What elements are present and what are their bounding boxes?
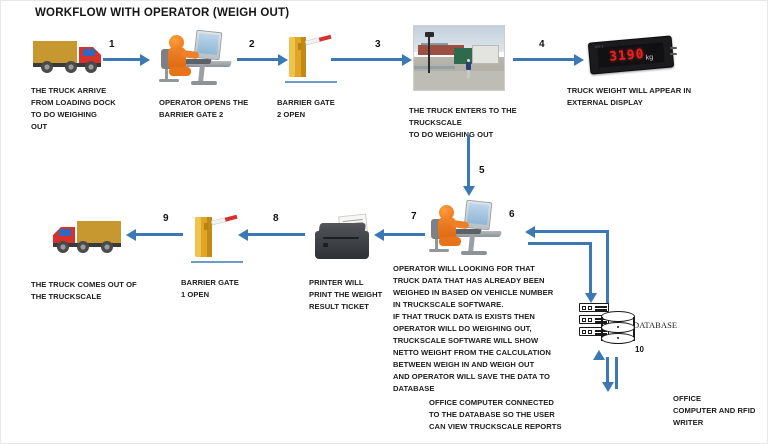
step-number-4: 4 [539, 39, 545, 50]
step-number-1: 1 [109, 39, 115, 50]
arrow-5 [467, 135, 470, 187]
step-number-2: 2 [249, 39, 255, 50]
display-bolt-icon [670, 47, 677, 49]
database-cylinder-icon [601, 311, 635, 345]
database-to-office-arrow [606, 357, 609, 383]
display-weight-unit: kg [645, 54, 653, 62]
database-label: DATABASE [633, 319, 677, 332]
led-weight-display-node: KG-1 3190 kg [585, 35, 677, 75]
operator-weighing-node [429, 197, 503, 257]
arrow-6-horizontal [534, 230, 609, 233]
arrow-2 [237, 58, 279, 61]
office-computer-label: OFFICE COMPUTER AND RFID WRITER [673, 393, 765, 429]
step-number-6: 6 [509, 209, 515, 220]
printer-caption: PRINTER WILL PRINT THE WEIGHT RESULT TIC… [309, 277, 401, 313]
truck-exit-caption: THE TRUCK COMES OUT OF THE TRUCKSCALE [31, 279, 171, 303]
truckscale-photo [413, 25, 505, 91]
office-to-database-line [615, 357, 618, 389]
database-node [579, 299, 637, 349]
arrow-1 [103, 58, 141, 61]
printer-node [313, 215, 371, 259]
step-number-9: 9 [163, 213, 169, 224]
operator-to-database-horizontal [528, 242, 592, 245]
step-number-8: 8 [273, 213, 279, 224]
barrier-gate-1-caption: BARRIER GATE 1 OPEN [181, 277, 265, 301]
arrow-4 [513, 58, 575, 61]
truck-exit-node [45, 215, 123, 260]
barrier-gate-icon [189, 209, 251, 267]
page-title: WORKFLOW WITH OPERATOR (WEIGH OUT) [35, 7, 289, 19]
arrow-7 [383, 233, 425, 236]
operator-opens-gate-caption: OPERATOR OPENS THE BARRIER GATE 2 [159, 97, 269, 121]
truckscale-caption: THE TRUCK ENTERS TO THE TRUCKSCALE TO DO… [409, 105, 569, 141]
arrow-9 [135, 233, 183, 236]
barrier-gate-1-node [189, 209, 251, 272]
truck-arrive-node [31, 35, 109, 80]
step-number-7: 7 [411, 211, 417, 222]
display-bolt-icon [670, 53, 677, 55]
office-computer-caption: OFFICE COMPUTER CONNECTED TO THE DATABAS… [429, 397, 571, 433]
operator-weighing-caption: OPERATOR WILL LOOKING FOR THAT TRUCK DAT… [393, 263, 563, 395]
truck-icon [45, 215, 123, 255]
barrier-gate-2-caption: BARRIER GATE 2 OPEN [277, 97, 361, 121]
led-display-caption: TRUCK WEIGHT WILL APPEAR IN EXTERNAL DIS… [567, 85, 717, 109]
arrow-6-riser [606, 230, 609, 306]
step-number-10: 10 [635, 345, 644, 354]
truck-icon [31, 35, 109, 75]
step-number-3: 3 [375, 39, 381, 50]
arrow-3 [331, 58, 403, 61]
truck-arrive-caption: THE TRUCK ARRIVE FROM LOADING DOCK TO DO… [31, 85, 139, 133]
workflow-diagram: WORKFLOW WITH OPERATOR (WEIGH OUT) THE T… [0, 0, 768, 444]
operator-to-database-arrow [589, 242, 592, 294]
led-weight-display-icon: KG-1 3190 kg [588, 35, 674, 74]
arrow-8 [247, 233, 305, 236]
display-weight-value: 3190 [609, 46, 645, 64]
operator-opens-gate-node [159, 27, 233, 87]
step-number-5: 5 [479, 165, 485, 176]
